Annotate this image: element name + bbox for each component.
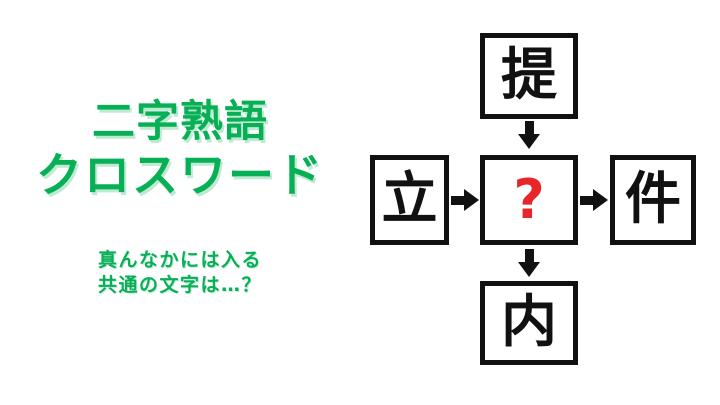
headline-line-2: クロスワード bbox=[0, 149, 360, 202]
subtitle-line-1: 真んなかには入る bbox=[0, 248, 360, 273]
puzzle-cell-bottom: 内 bbox=[480, 281, 578, 365]
puzzle-cell-top: 提 bbox=[480, 33, 578, 119]
arrow-head bbox=[518, 134, 540, 149]
arrow-right-icon-left-to-center bbox=[451, 189, 479, 211]
puzzle-cell-right-kanji: 件 bbox=[625, 172, 681, 228]
unknown-answer-question-mark: ? bbox=[513, 173, 544, 227]
puzzle-slide: 二字熟語 クロスワード 真んなかには入る 共通の文字は…？ 提 立 ? 件 内 bbox=[0, 0, 720, 405]
puzzle-cell-left: 立 bbox=[370, 155, 449, 245]
arrow-right-icon-center-to-right bbox=[580, 189, 608, 211]
arrow-down-icon-top-to-center bbox=[518, 121, 540, 149]
subtitle: 真んなかには入る 共通の文字は…？ bbox=[0, 248, 360, 298]
headline-line-1: 二字熟語 bbox=[0, 96, 360, 149]
arrow-head bbox=[464, 189, 479, 211]
arrow-head bbox=[518, 262, 540, 277]
arrow-down-icon-center-to-bottom bbox=[518, 249, 540, 277]
puzzle-cell-right: 件 bbox=[610, 155, 696, 245]
arrow-head bbox=[593, 189, 608, 211]
headline: 二字熟語 クロスワード bbox=[0, 96, 360, 202]
puzzle-cell-left-kanji: 立 bbox=[382, 172, 438, 228]
subtitle-line-2: 共通の文字は…？ bbox=[0, 273, 360, 298]
puzzle-cell-center-answer[interactable]: ? bbox=[480, 155, 578, 245]
puzzle-cell-top-kanji: 提 bbox=[501, 48, 557, 104]
puzzle-cell-bottom-kanji: 内 bbox=[501, 295, 557, 351]
